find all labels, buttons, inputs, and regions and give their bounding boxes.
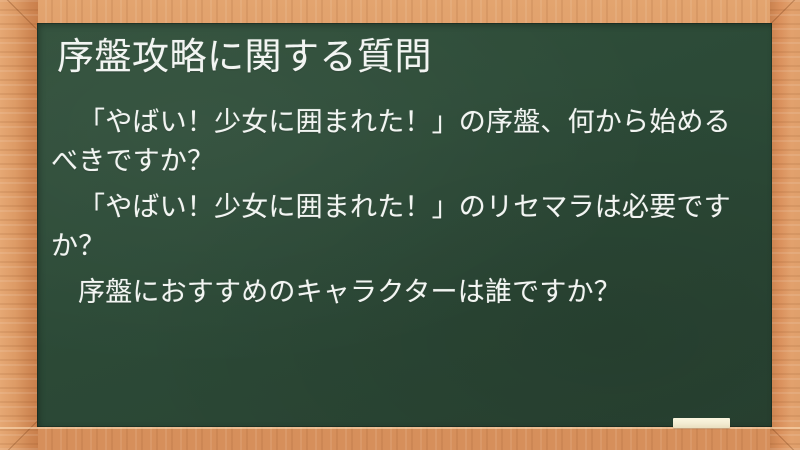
list-item: 「やばい！少女に囲まれた！」のリセマラは必要ですか？ bbox=[51, 188, 757, 266]
wood-frame-left-rail bbox=[0, 0, 38, 450]
chalk-eraser-icon bbox=[673, 418, 730, 428]
question-list: 「やばい！少女に囲まれた！」の序盤、何から始めるべきですか？ 「やばい！少女に囲… bbox=[51, 103, 757, 312]
chalkboard-slide: 序盤攻略に関する質問 「やばい！少女に囲まれた！」の序盤、何から始めるべきですか… bbox=[0, 0, 800, 450]
page-title: 序盤攻略に関する質問 bbox=[57, 32, 432, 82]
chalkboard-surface: 序盤攻略に関する質問 「やばい！少女に囲まれた！」の序盤、何から始めるべきですか… bbox=[37, 23, 772, 427]
list-item: 「やばい！少女に囲まれた！」の序盤、何から始めるべきですか？ bbox=[51, 103, 757, 181]
list-item: 序盤におすすめのキャラクターは誰ですか？ bbox=[51, 273, 757, 312]
wood-frame-right-rail bbox=[770, 0, 800, 450]
